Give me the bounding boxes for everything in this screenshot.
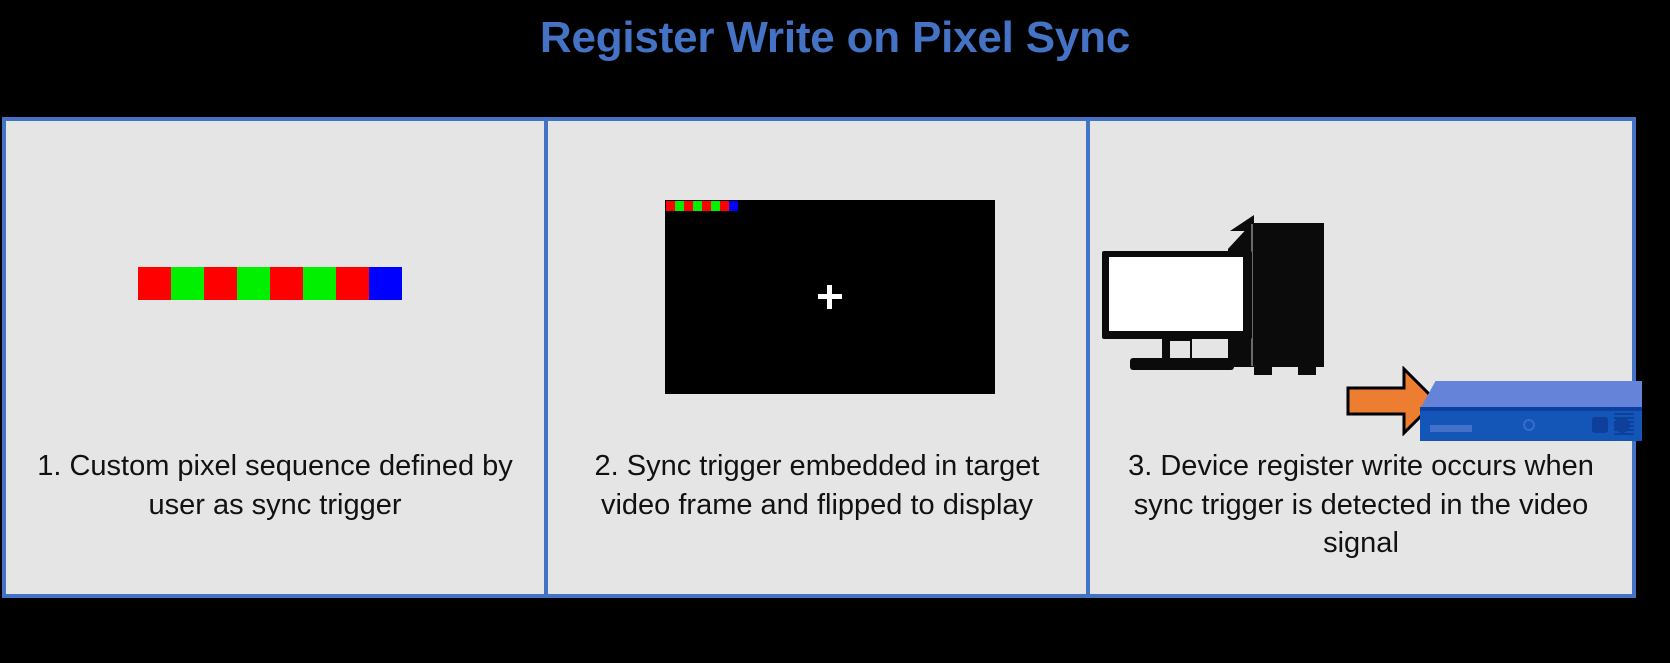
embedded-pixel-sequence-strip xyxy=(666,201,738,211)
slide-canvas: Register Write on Pixel Sync 1. Custom p… xyxy=(0,0,1670,663)
pixel-swatch-5 xyxy=(702,201,711,211)
pixel-swatch-1 xyxy=(138,267,171,300)
device-front-edge xyxy=(1420,407,1642,411)
pixel-swatch-8 xyxy=(369,267,402,300)
panel-row: 1. Custom pixel sequence defined by user… xyxy=(2,117,1640,598)
panel-2-art xyxy=(548,121,1086,451)
video-frame xyxy=(665,200,995,394)
pixel-swatch-7 xyxy=(720,201,729,211)
monitor-neck-cutout xyxy=(1170,341,1190,359)
pixel-swatch-4 xyxy=(693,201,702,211)
pixel-swatch-5 xyxy=(270,267,303,300)
fixation-cross-icon xyxy=(818,285,842,309)
tower-foot-right xyxy=(1298,365,1316,375)
pixel-sequence-strip xyxy=(138,267,402,300)
panel-2: 2. Sync trigger embedded in target video… xyxy=(544,117,1090,598)
panel-1-art xyxy=(6,121,544,451)
pixel-swatch-3 xyxy=(204,267,237,300)
pixel-swatch-2 xyxy=(171,267,204,300)
panel-1: 1. Custom pixel sequence defined by user… xyxy=(2,117,548,598)
device-knob-2 xyxy=(1614,417,1630,433)
tower-foot-left xyxy=(1254,365,1272,375)
monitor-screen xyxy=(1109,257,1243,331)
tower-front-face xyxy=(1252,223,1324,367)
pixel-swatch-3 xyxy=(684,201,693,211)
panel-3: 3. Device register write occurs when syn… xyxy=(1086,117,1636,598)
panel-3-art xyxy=(1090,121,1632,451)
pixel-swatch-2 xyxy=(675,201,684,211)
device-knob-1 xyxy=(1592,417,1608,433)
pixel-swatch-6 xyxy=(303,267,336,300)
desktop-computer-icon xyxy=(1102,215,1352,375)
blue-hardware-device-icon xyxy=(1420,381,1642,443)
panel-1-caption: 1. Custom pixel sequence defined by user… xyxy=(20,447,530,524)
device-fan-icon xyxy=(1523,419,1535,431)
panel-2-caption: 2. Sync trigger embedded in target video… xyxy=(562,447,1072,524)
panel-3-caption: 3. Device register write occurs when syn… xyxy=(1104,447,1618,563)
pixel-swatch-4 xyxy=(237,267,270,300)
page-title: Register Write on Pixel Sync xyxy=(0,14,1670,62)
device-logo xyxy=(1430,425,1472,432)
pixel-swatch-7 xyxy=(336,267,369,300)
pixel-swatch-6 xyxy=(711,201,720,211)
pixel-swatch-8 xyxy=(729,201,738,211)
pixel-swatch-1 xyxy=(666,201,675,211)
monitor-base xyxy=(1130,358,1234,370)
device-top-face xyxy=(1420,381,1642,409)
